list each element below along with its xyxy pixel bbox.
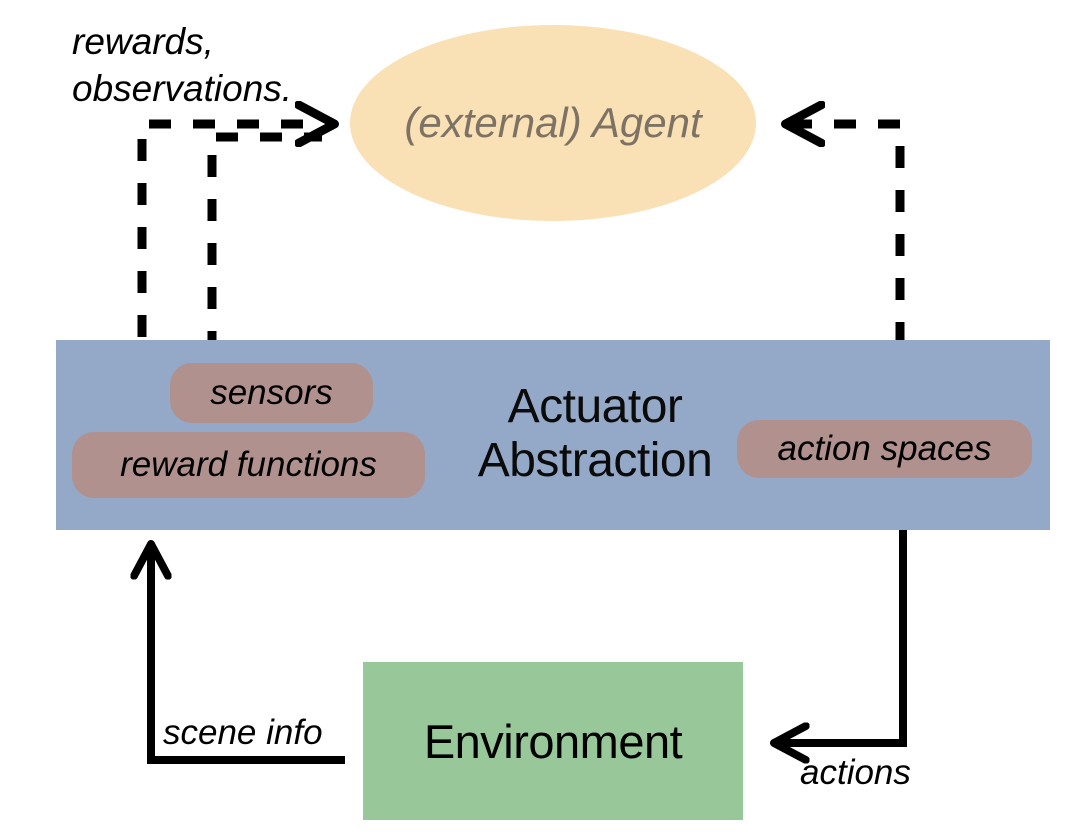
- pill-action-spaces-label: action spaces: [777, 429, 991, 469]
- pill-sensors[interactable]: sensors: [170, 363, 373, 423]
- edge-label-rewards-observations: rewards, observations.: [72, 18, 292, 113]
- pill-action-spaces[interactable]: action spaces: [737, 420, 1032, 478]
- environment-node[interactable]: Environment: [363, 662, 743, 820]
- pill-reward-functions-label: reward functions: [120, 445, 377, 485]
- actuator-abstraction-title: Actuator Abstraction: [455, 380, 735, 488]
- edge-label-scene-info: scene info: [163, 713, 323, 753]
- diagram-canvas: Actuator Abstraction sensors reward func…: [0, 0, 1091, 836]
- environment-label: Environment: [424, 714, 682, 769]
- edge-label-actions: actions: [800, 753, 911, 793]
- pill-reward-functions[interactable]: reward functions: [72, 432, 425, 498]
- edge-sensors-to-agent: [212, 137, 322, 353]
- agent-label: (external) Agent: [404, 99, 701, 147]
- agent-node[interactable]: (external) Agent: [350, 25, 756, 221]
- pill-sensors-label: sensors: [210, 373, 333, 413]
